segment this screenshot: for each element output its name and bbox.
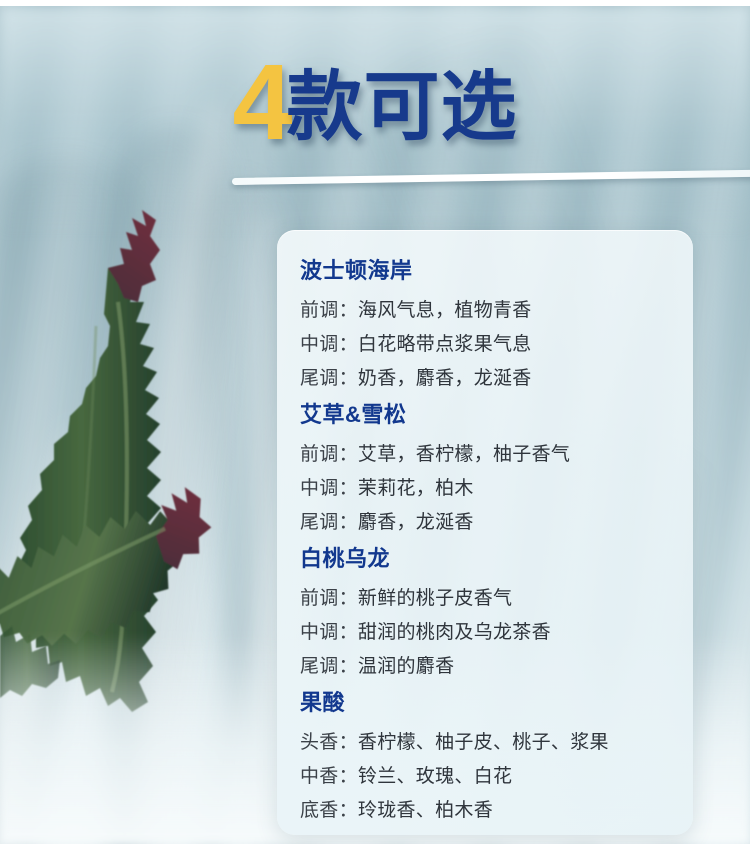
fragrance-note-value: 玲珑香、柏木香 [358, 800, 493, 821]
fragrance-note-row: 尾调：奶香，麝香，龙涎香 [300, 362, 693, 396]
fragrance-note-row: 中调：白花略带点浆果气息 [300, 328, 693, 362]
fragrance-note-label: 前调： [300, 588, 358, 609]
fragrance-note-label: 尾调： [300, 368, 358, 389]
fragrance-note-label: 中香： [300, 766, 358, 787]
fragrance-note-value: 甜润的桃肉及乌龙茶香 [358, 622, 551, 643]
fragrance-note-value: 麝香，龙涎香 [358, 512, 474, 533]
fragrance-note-label: 中调： [300, 334, 358, 355]
fragrance-note-value: 奶香，麝香，龙涎香 [358, 368, 532, 389]
fragrance-group: 白桃乌龙前调：新鲜的桃子皮香气中调：甜润的桃肉及乌龙茶香尾调：温润的麝香 [300, 544, 693, 684]
fragrance-note-value: 白花略带点浆果气息 [358, 334, 532, 355]
fragrance-note-row: 前调：海风气息，植物青香 [300, 294, 693, 328]
fragrance-group: 波士顿海岸前调：海风气息，植物青香中调：白花略带点浆果气息尾调：奶香，麝香，龙涎… [300, 256, 693, 396]
fragrance-note-row: 底香：玲珑香、柏木香 [300, 794, 693, 828]
fragrance-note-label: 中调： [300, 622, 358, 643]
fragrance-group: 艾草&雪松前调：艾草，香柠檬，柚子香气中调：茉莉花，柏木尾调：麝香，龙涎香 [300, 400, 693, 540]
fragrance-notes-card: 波士顿海岸前调：海风气息，植物青香中调：白花略带点浆果气息尾调：奶香，麝香，龙涎… [277, 230, 693, 835]
fragrance-note-value: 海风气息，植物青香 [358, 300, 532, 321]
fragrance-note-label: 前调： [300, 444, 358, 465]
fragrance-note-row: 头香：香柠檬、柚子皮、桃子、浆果 [300, 726, 693, 760]
fragrance-note-value: 新鲜的桃子皮香气 [358, 588, 512, 609]
fragrance-note-row: 前调：艾草，香柠檬，柚子香气 [300, 438, 693, 472]
fragrance-group-list: 波士顿海岸前调：海风气息，植物青香中调：白花略带点浆果气息尾调：奶香，麝香，龙涎… [300, 256, 693, 828]
fragrance-note-label: 前调： [300, 300, 358, 321]
fragrance-note-value: 香柠檬、柚子皮、桃子、浆果 [358, 732, 609, 753]
fragrance-note-row: 尾调：麝香，龙涎香 [300, 506, 693, 540]
fragrance-note-row: 中香：铃兰、玫瑰、白花 [300, 760, 693, 794]
fragrance-note-label: 底香： [300, 800, 358, 821]
fragrance-note-value: 艾草，香柠檬，柚子香气 [358, 444, 570, 465]
fragrance-group: 果酸头香：香柠檬、柚子皮、桃子、浆果中香：铃兰、玫瑰、白花底香：玲珑香、柏木香 [300, 688, 693, 828]
fragrance-note-row: 中调：茉莉花，柏木 [300, 472, 693, 506]
fragrance-note-value: 温润的麝香 [358, 656, 455, 677]
fragrance-group-title: 艾草&雪松 [300, 400, 693, 430]
fragrance-note-row: 中调：甜润的桃肉及乌龙茶香 [300, 616, 693, 650]
fragrance-note-label: 头香： [300, 732, 358, 753]
fragrance-note-label: 尾调： [300, 656, 358, 677]
fragrance-note-row: 尾调：温润的麝香 [300, 650, 693, 684]
fragrance-group-title: 果酸 [300, 688, 693, 718]
fragrance-note-value: 茉莉花，柏木 [358, 478, 474, 499]
fragrance-note-label: 中调： [300, 478, 358, 499]
promo-page: 4款可选 波士顿海岸前调：海风气息，植物青香中调：白花略带点浆果气息尾调：奶香，… [0, 0, 750, 844]
fragrance-note-row: 前调：新鲜的桃子皮香气 [300, 582, 693, 616]
fragrance-group-title: 波士顿海岸 [300, 256, 693, 286]
fragrance-note-value: 铃兰、玫瑰、白花 [358, 766, 512, 787]
fragrance-note-label: 尾调： [300, 512, 358, 533]
fragrance-group-title: 白桃乌龙 [300, 544, 693, 574]
